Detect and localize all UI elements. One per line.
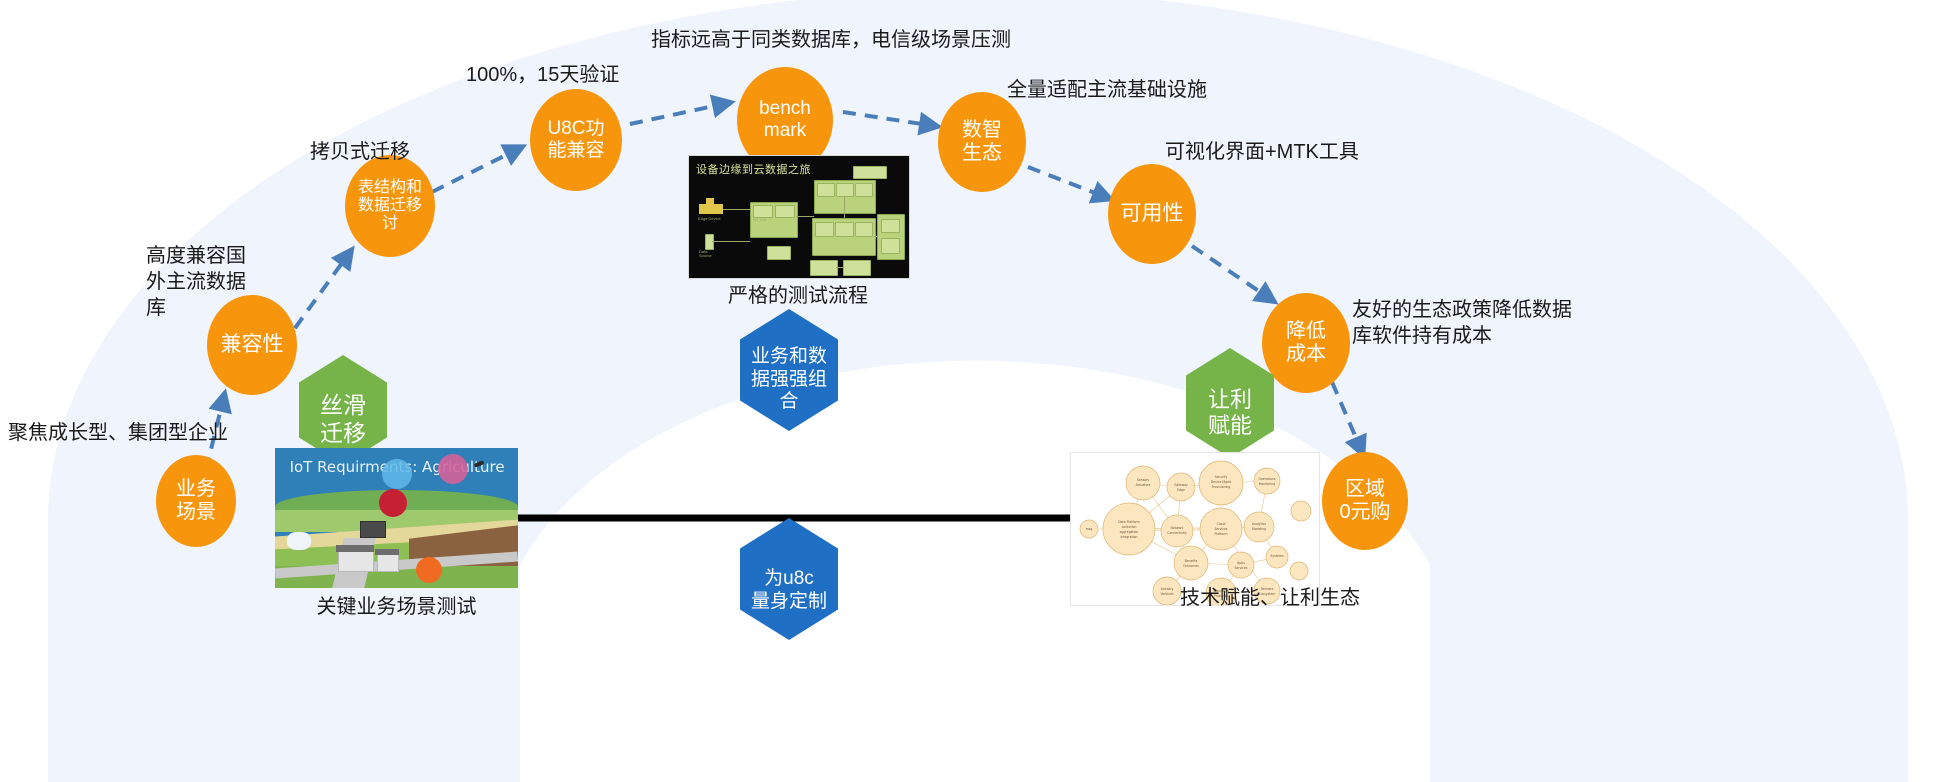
svg-text:integration: integration — [1121, 535, 1138, 539]
node-region-zero-purchase[interactable]: 区域 0元购 — [1322, 452, 1408, 550]
svg-text:Network: Network — [1171, 526, 1184, 530]
svg-text:Operations: Operations — [1258, 477, 1275, 481]
node-benchmark-line2: mark — [759, 120, 811, 142]
node-business-data-combo-line2: 据强强组 — [751, 369, 827, 392]
annotation-compat-foreign-db: 高度兼容国 外主流数据 库 — [146, 243, 246, 321]
svg-text:Sensors: Sensors — [1137, 478, 1150, 482]
node-schema-data-migration-line3: 讨 — [358, 215, 422, 233]
svg-text:msg: msg — [1086, 527, 1093, 531]
node-benchmark-line1: bench — [759, 98, 811, 120]
svg-text:Monitoring: Monitoring — [1259, 482, 1276, 486]
svg-text:Modeling: Modeling — [1252, 527, 1266, 531]
svg-text:Platform: Platform — [1214, 532, 1227, 536]
arrow-ecology-to-availability — [1028, 167, 1108, 198]
node-business-scenario-line2: 场景 — [176, 501, 216, 524]
svg-text:Provisioning: Provisioning — [1212, 485, 1231, 489]
pic-tech-ecology-graph: msg Data Platform collection aggregation… — [1070, 452, 1320, 606]
node-profit-empower-line1: 让利 — [1208, 387, 1252, 413]
node-reduce-cost-line2: 成本 — [1286, 343, 1326, 366]
svg-text:Gateway: Gateway — [1174, 483, 1188, 487]
node-business-data-combo-line1: 业务和数 — [751, 346, 827, 369]
node-reduce-cost-line1: 降低 — [1286, 320, 1326, 343]
annotation-top-center: 指标远高于同类数据库，电信级场景压测 — [651, 27, 1011, 53]
node-business-scenario[interactable]: 业务 场景 — [156, 455, 236, 547]
annotation-copy-migration: 拷贝式迁移 — [310, 139, 410, 165]
svg-text:Systems: Systems — [1270, 554, 1284, 558]
node-region-zero-purchase-line1: 区域 — [1339, 478, 1390, 501]
node-reduce-cost[interactable]: 降低 成本 — [1262, 293, 1350, 393]
node-compatibility-line1: 兼容性 — [221, 333, 284, 357]
node-data-intelligence-ecology[interactable]: 数智 生态 — [938, 92, 1026, 192]
svg-text:Services: Services — [1234, 566, 1247, 570]
node-smooth-migration-line2: 迁移 — [320, 420, 366, 448]
node-smooth-migration-line1: 丝滑 — [320, 392, 366, 420]
arrow-cost-to-region — [1332, 382, 1362, 452]
node-availability[interactable]: 可用性 — [1108, 164, 1196, 264]
pic-device-edge-title: 设备边缘到云数据之旅 — [696, 161, 811, 177]
node-region-zero-purchase-line2: 0元购 — [1339, 501, 1390, 524]
node-data-intelligence-ecology-line1: 数智 — [962, 119, 1002, 142]
node-u8c-function-compat[interactable]: U8C功 能兼容 — [530, 89, 622, 191]
svg-text:Actuators: Actuators — [1136, 483, 1151, 487]
svg-text:Analytics: Analytics — [1252, 522, 1266, 526]
node-business-scenario-line1: 业务 — [176, 478, 216, 501]
node-tailored-for-u8c-line1: 为u8c — [751, 568, 827, 591]
svg-text:collection: collection — [1122, 525, 1137, 529]
node-schema-data-migration-line1: 表结构和 — [358, 179, 422, 197]
svg-text:Device Mgmt: Device Mgmt — [1211, 480, 1232, 484]
annotation-focus-enterprise: 聚焦成长型、集团型企业 — [8, 420, 228, 446]
pic-device-edge-caption: 严格的测试流程 — [688, 283, 908, 309]
arrow-benchmark-to-ecology — [843, 112, 935, 126]
svg-text:Apps: Apps — [1237, 561, 1245, 565]
annotation-visual-mtk: 可视化界面+MTK工具 — [1165, 139, 1359, 165]
node-data-intelligence-ecology-line2: 生态 — [962, 142, 1002, 165]
svg-text:Security: Security — [1215, 475, 1228, 479]
svg-text:aggregation: aggregation — [1120, 530, 1139, 534]
svg-text:Services: Services — [1214, 527, 1227, 531]
pic-tech-ecology-caption: 技术赋能、让利生态 — [1070, 585, 1470, 611]
arrow-u8c-to-benchmark — [630, 103, 728, 124]
svg-text:Cloud: Cloud — [1217, 522, 1226, 526]
node-tailored-for-u8c-line2: 量身定制 — [751, 591, 827, 614]
arrow-migration-to-u8c — [432, 148, 520, 192]
arrow-availability-to-cost — [1192, 246, 1272, 300]
svg-text:Outcomes: Outcomes — [1183, 564, 1199, 568]
pic-iot-agriculture-caption: 关键业务场景测试 — [275, 594, 518, 620]
tech-ecology-bubbles: msg Data Platform collection aggregation… — [1071, 453, 1319, 605]
node-u8c-function-compat-line1: U8C功 — [547, 118, 604, 140]
annotation-full-adaptation: 全量适配主流基础设施 — [1007, 77, 1207, 103]
node-u8c-function-compat-line2: 能兼容 — [547, 140, 604, 162]
diagram-canvas: 业务 场景 兼容性 表结构和 数据迁移 讨 U8C功 能兼容 bench mar… — [0, 0, 1945, 782]
node-availability-line1: 可用性 — [1121, 202, 1184, 226]
node-business-data-combo-line3: 合 — [751, 391, 827, 414]
pic-device-edge-to-cloud: 设备边缘到云数据之旅 Edge Device DataSource IoT GW — [688, 155, 910, 279]
annotation-100-15-days: 100%，15天验证 — [466, 62, 619, 88]
node-schema-data-migration[interactable]: 表结构和 数据迁移 讨 — [345, 155, 435, 257]
svg-text:Data Platform: Data Platform — [1118, 520, 1139, 524]
annotation-friendly-policy: 友好的生态政策降低数据 库软件持有成本 — [1352, 297, 1572, 349]
node-profit-empower-line2: 赋能 — [1208, 413, 1252, 439]
svg-text:Connectivity: Connectivity — [1167, 531, 1187, 535]
svg-text:Edge: Edge — [1177, 488, 1185, 492]
svg-text:Benefits: Benefits — [1185, 559, 1198, 563]
pic-iot-agriculture: IoT Requirments: Agriculture — [275, 448, 518, 588]
node-schema-data-migration-line2: 数据迁移 — [358, 197, 422, 215]
